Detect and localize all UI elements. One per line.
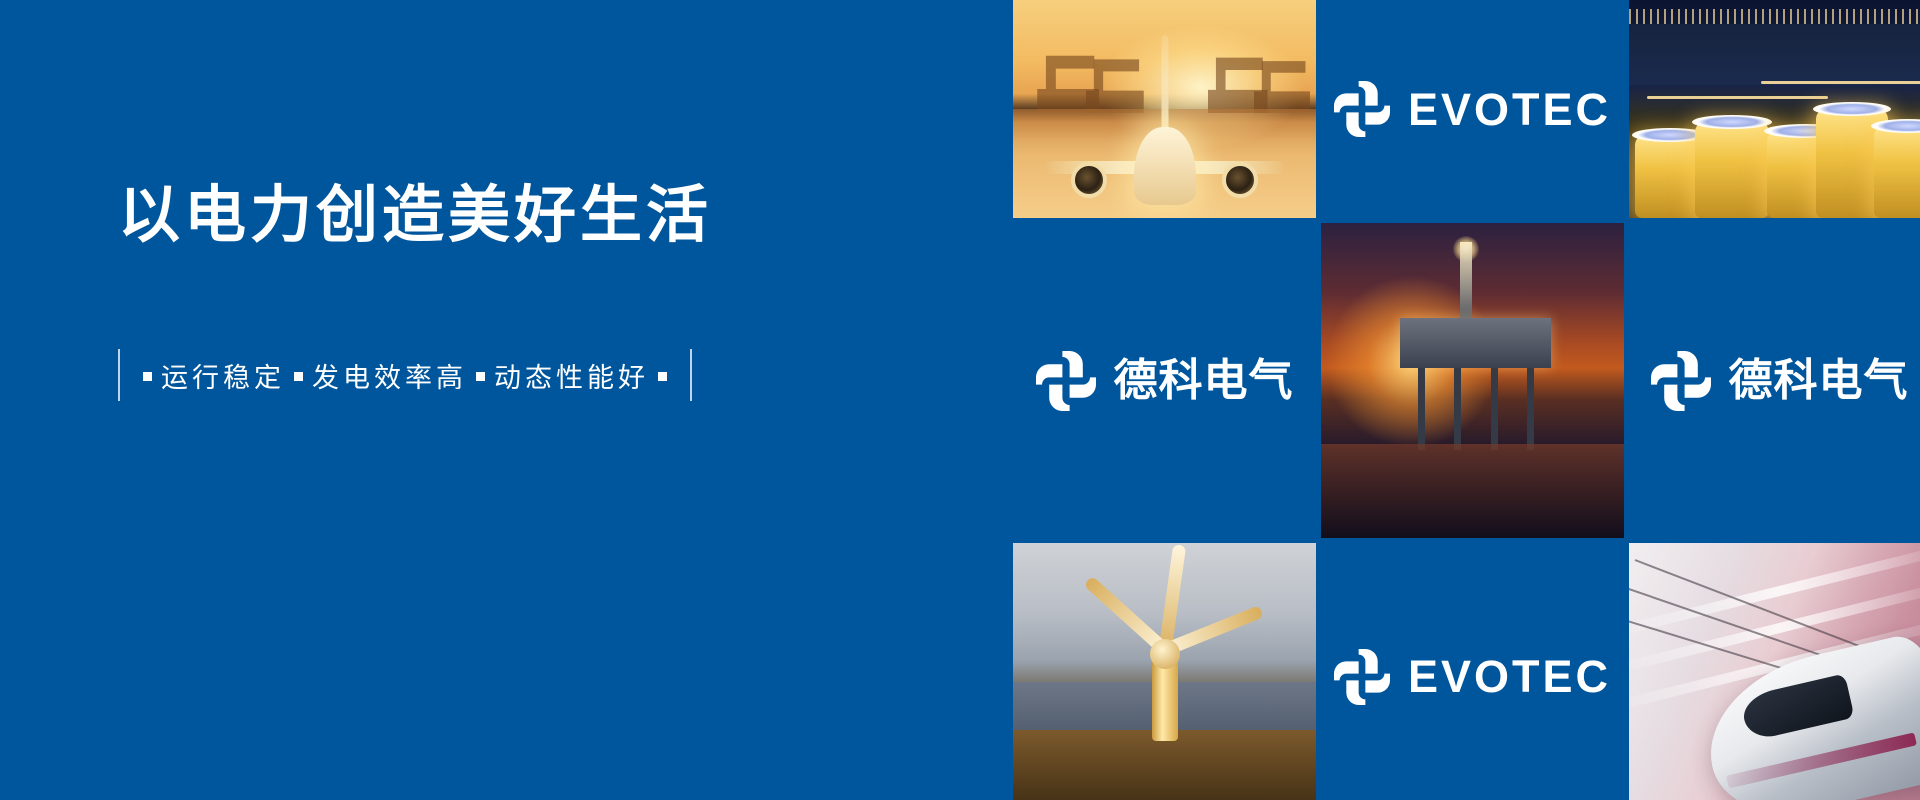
hero-copy-block: 以电力创造美好生活 运行稳定 发电效率高 动态性能好 — [118, 180, 818, 403]
page-title: 以电力创造美好生活 — [118, 180, 818, 251]
photo-high-speed-train-in-motion — [1629, 543, 1920, 800]
photo-tidal-turbine-at-dusk — [1013, 543, 1316, 800]
subtitle-item-0: 运行稳定 — [161, 356, 285, 395]
evotec-pinwheel-logo-icon — [1651, 351, 1711, 411]
evotec-pinwheel-logo-icon — [1334, 649, 1390, 705]
evotec-logo-latin-top: EVOTEC — [1321, 0, 1624, 218]
dekeh-logo-cjk-right: 德科电气 — [1629, 223, 1920, 538]
subtitle-items: 运行稳定 发电效率高 动态性能好 — [120, 356, 690, 395]
evotec-pinwheel-logo-icon — [1334, 81, 1390, 137]
hero-subtitle: 运行稳定 发电效率高 动态性能好 — [118, 347, 818, 403]
photo-offshore-oil-rig-at-sunset — [1321, 223, 1624, 538]
photo-airplane-at-sunset-port — [1013, 0, 1316, 218]
dekeh-logo-cjk-left: 德科电气 — [1013, 223, 1316, 538]
bullet-square-icon — [476, 372, 485, 381]
bullet-square-icon — [143, 372, 152, 381]
evotec-logo-latin-bottom: EVOTEC — [1321, 543, 1624, 800]
dekeh-wordmark: 德科电气 — [1114, 359, 1294, 403]
bullet-square-icon — [294, 372, 303, 381]
evotec-wordmark: EVOTEC — [1408, 654, 1611, 699]
photo-oil-tank-farm-at-night — [1629, 0, 1920, 218]
subtitle-item-1: 发电效率高 — [312, 356, 467, 395]
brand-photo-grid: EVOTEC 德科电气 — [1013, 0, 1920, 800]
subtitle-right-rule — [690, 349, 692, 401]
subtitle-item-2: 动态性能好 — [494, 356, 649, 395]
evotec-wordmark: EVOTEC — [1408, 87, 1611, 132]
dekeh-wordmark: 德科电气 — [1729, 359, 1909, 403]
evotec-pinwheel-logo-icon — [1036, 351, 1096, 411]
bullet-square-icon — [658, 372, 667, 381]
